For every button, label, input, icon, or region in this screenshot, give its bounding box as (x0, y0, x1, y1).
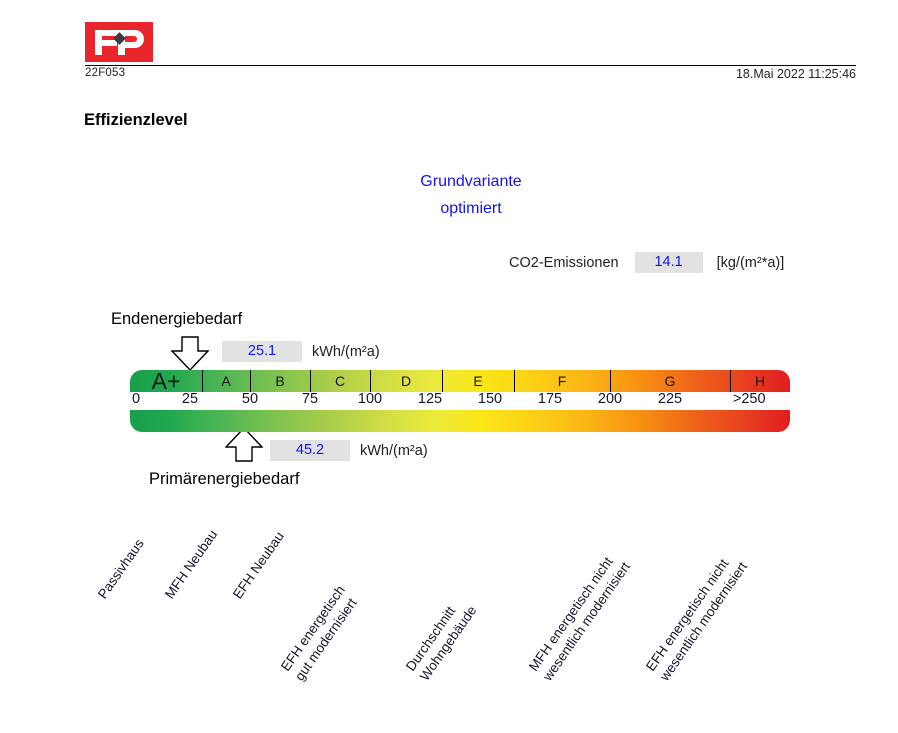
category-label-6: EFH energetisch nichtwesentlich modernis… (642, 549, 751, 684)
category-label-5: MFH energetisch nichtwesentlich modernis… (525, 549, 634, 684)
category-label-2: EFH Neubau (229, 528, 288, 602)
category-label-line: EFH Neubau (229, 528, 288, 602)
category-label-line: MFH Neubau (161, 526, 221, 602)
category-label-4: DurchschnittWohngebäude (402, 593, 480, 684)
category-label-3: EFH energetischgut modernisiert (277, 582, 363, 684)
category-label-1: MFH Neubau (161, 526, 221, 602)
building-type-labels: PassivhausMFH NeubauEFH NeubauEFH energe… (0, 0, 898, 733)
category-label-line: Passivhaus (94, 536, 148, 602)
category-label-0: Passivhaus (94, 536, 148, 602)
